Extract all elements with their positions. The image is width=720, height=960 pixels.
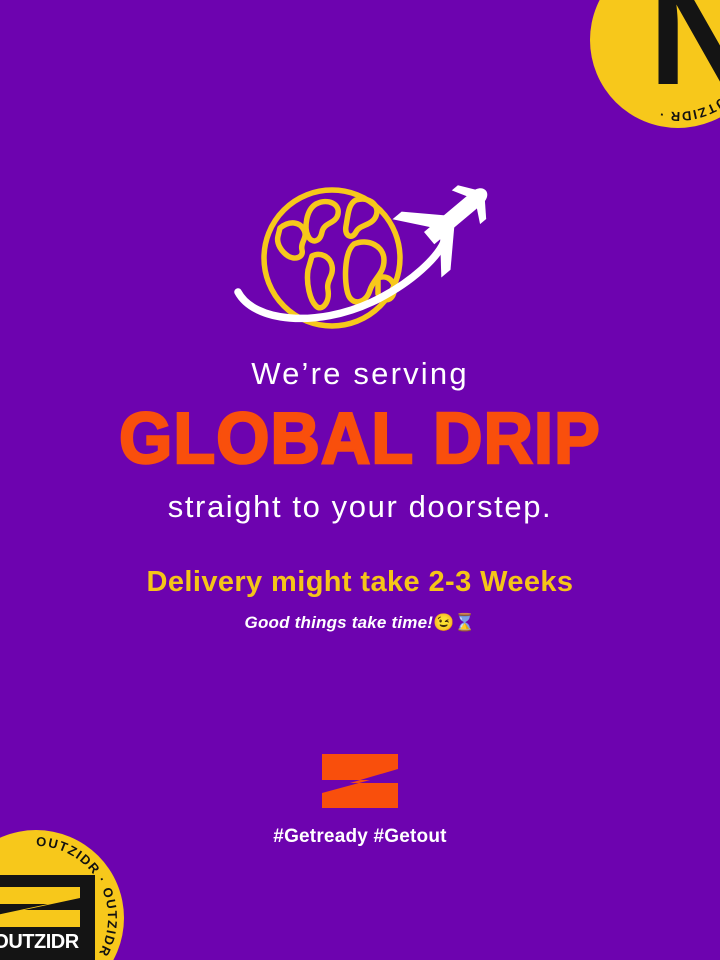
eyebrow-text: We’re serving <box>0 358 720 391</box>
brand-badge-top-right: OUTZIDR · OUTZIDR · OUTZIDR · N <box>590 0 720 128</box>
brand-badge-bottom-left: OUTZIDR · OUTZIDR · OUTZIDR · OUTZIDR <box>0 830 124 960</box>
badge-wordmark: OUTZIDR <box>0 932 79 952</box>
badge-center-letter-tr: N <box>651 0 720 94</box>
globe-airplane-illustration <box>228 170 492 346</box>
z-logo-icon <box>320 752 400 810</box>
promo-poster: OUTZIDR · OUTZIDR · OUTZIDR · N <box>0 0 720 960</box>
airplane-icon <box>392 170 492 278</box>
badge-core-bottom-left: OUTZIDR <box>0 875 95 960</box>
copy-block: We’re serving GLOBAL DRIP straight to yo… <box>0 358 720 631</box>
page-title: GLOBAL DRIP <box>0 403 720 475</box>
subline-text: straight to your doorstep. <box>0 491 720 524</box>
badge-z-logo-icon <box>0 885 82 929</box>
reassurance-line: Good things take time!😉⌛ <box>0 614 720 632</box>
delivery-notice: Delivery might take 2-3 Weeks <box>0 567 720 597</box>
reassurance-emoji: 😉⌛ <box>433 613 475 632</box>
badge-core-top-right: N <box>651 0 720 99</box>
reassurance-text: Good things take time! <box>245 613 434 632</box>
globe-landmasses <box>278 199 395 308</box>
